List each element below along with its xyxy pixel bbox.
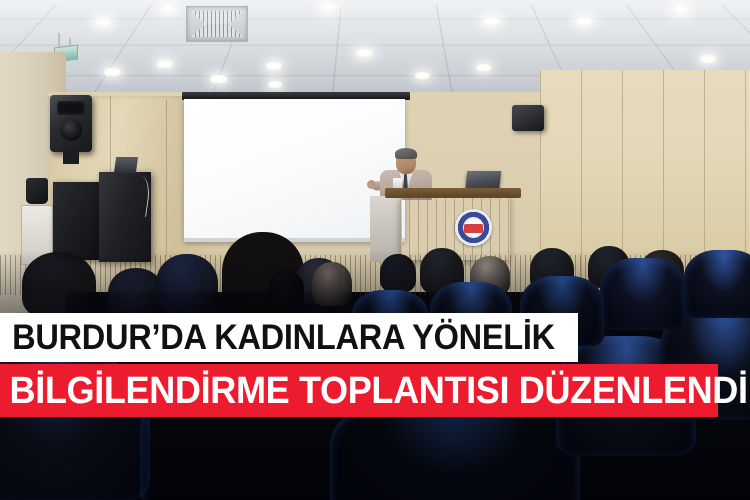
ceiling-light (160, 5, 176, 13)
ceiling-light (576, 17, 593, 26)
photograph (0, 0, 750, 500)
equipment-bag (26, 178, 48, 204)
ceiling-air-vent (186, 6, 248, 42)
ceiling-light (95, 18, 112, 27)
headline-band-secondary: BİLGİLENDİRME TOPLANTISI DÜZENLENDİ (0, 364, 718, 417)
news-image: BURDUR’DA KADINLARA YÖNELİK BİLGİLENDİRM… (0, 0, 750, 500)
ceiling-light (268, 81, 282, 88)
headline-band-primary: BURDUR’DA KADINLARA YÖNELİK (0, 313, 578, 362)
ceiling-light (415, 72, 430, 79)
speaker-mount (63, 150, 79, 164)
ceiling-light (672, 5, 689, 14)
auditorium-seat (684, 250, 750, 318)
ceiling-light (356, 49, 373, 57)
ceiling-light (476, 64, 491, 71)
auditorium-seat (600, 258, 686, 330)
ceiling-light (700, 55, 716, 63)
flight-case-left (53, 182, 101, 260)
ceiling-light (266, 62, 282, 70)
headline-line-2: BİLGİLENDİRME TOPLANTISI DÜZENLENDİ (0, 372, 748, 410)
case-laptop-lid (114, 157, 138, 173)
ceiling-light (320, 2, 338, 11)
presenter-hair (395, 148, 417, 159)
exit-sign-hanger (58, 33, 60, 47)
ceiling-light (104, 68, 121, 76)
presenter-hand (367, 180, 376, 189)
institution-emblem (455, 209, 492, 246)
headline-line-1: BURDUR’DA KADINLARA YÖNELİK (0, 320, 555, 355)
wall-speaker-right-icon (512, 105, 544, 131)
ceiling-light (157, 60, 173, 68)
ceiling-light (210, 75, 227, 83)
wall-seam (166, 100, 167, 256)
ceiling-light (483, 17, 500, 26)
wall-speaker-left-icon (50, 95, 92, 152)
